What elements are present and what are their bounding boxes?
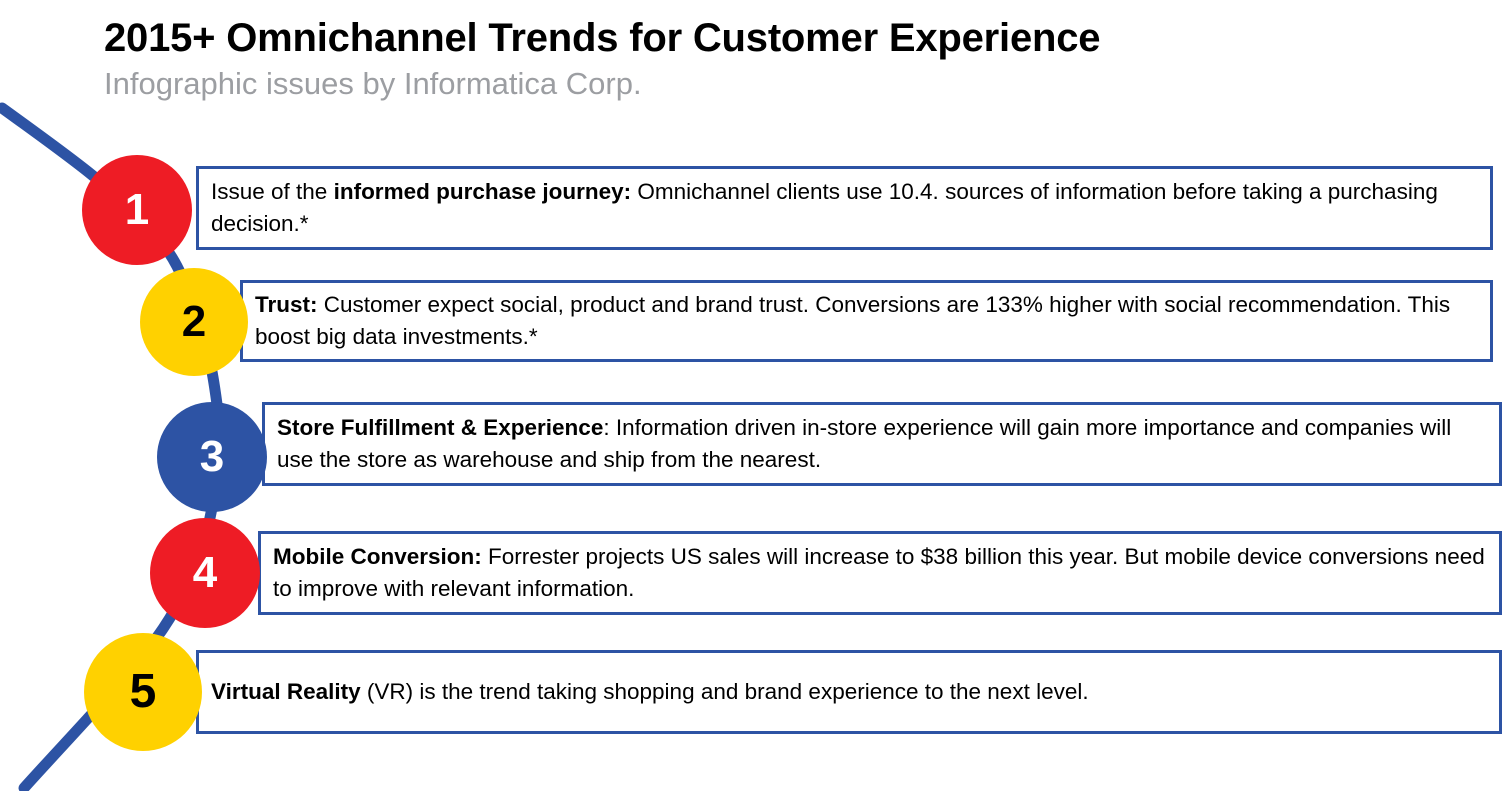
callout-bold-5: Virtual Reality	[211, 679, 361, 704]
callout-body-2: Customer expect social, product and bran…	[255, 292, 1450, 349]
callout-text-5: Virtual Reality (VR) is the trend taking…	[199, 676, 1499, 708]
callout-prebold-1: Issue of the	[211, 179, 334, 204]
callout-text-4: Mobile Conversion: Forrester projects US…	[261, 541, 1499, 605]
callout-text-1: Issue of the informed purchase journey: …	[199, 176, 1490, 240]
page-subtitle: Infographic issues by Informatica Corp.	[104, 65, 1444, 102]
callout-text-3: Store Fulfillment & Experience: Informat…	[265, 412, 1499, 476]
badge-4[interactable]: 4	[150, 518, 260, 628]
badge-5[interactable]: 5	[84, 633, 202, 751]
callout-box-4[interactable]: Mobile Conversion: Forrester projects US…	[258, 531, 1502, 615]
header: 2015+ Omnichannel Trends for Customer Ex…	[104, 16, 1444, 102]
badge-label-3: 3	[200, 435, 224, 479]
badge-2[interactable]: 2	[140, 268, 248, 376]
badge-label-4: 4	[193, 551, 217, 595]
badge-1[interactable]: 1	[82, 155, 192, 265]
badge-label-2: 2	[182, 300, 206, 344]
callout-text-2: Trust: Customer expect social, product a…	[243, 289, 1490, 353]
callout-bold-3: Store Fulfillment & Experience	[277, 415, 603, 440]
infographic-canvas: 2015+ Omnichannel Trends for Customer Ex…	[0, 0, 1502, 791]
badge-label-1: 1	[125, 188, 149, 232]
callout-box-5[interactable]: Virtual Reality (VR) is the trend taking…	[196, 650, 1502, 734]
badge-3[interactable]: 3	[157, 402, 267, 512]
callout-bold-4: Mobile Conversion:	[273, 544, 482, 569]
callout-box-2[interactable]: Trust: Customer expect social, product a…	[240, 280, 1493, 362]
callout-box-1[interactable]: Issue of the informed purchase journey: …	[196, 166, 1493, 250]
callout-box-3[interactable]: Store Fulfillment & Experience: Informat…	[262, 402, 1502, 486]
callout-body-5: (VR) is the trend taking shopping and br…	[361, 679, 1089, 704]
badge-label-5: 5	[130, 668, 157, 716]
page-title: 2015+ Omnichannel Trends for Customer Ex…	[104, 16, 1444, 61]
callout-bold-1: informed purchase journey:	[334, 179, 632, 204]
callout-bold-2: Trust:	[255, 292, 318, 317]
